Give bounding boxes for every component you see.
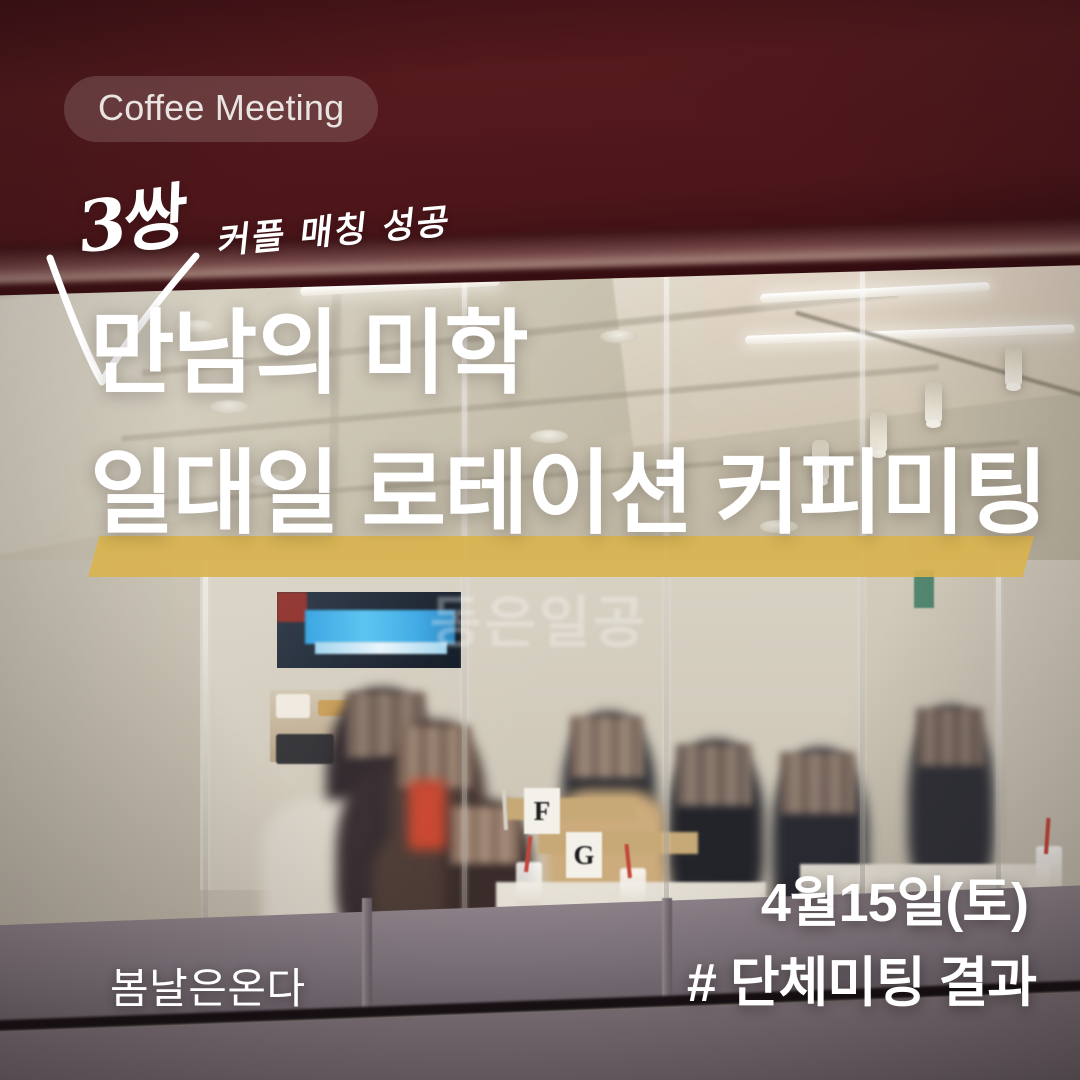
category-badge[interactable]: Coffee Meeting [64,76,378,142]
promo-poster: F G 동은일공 Coffee Meeting [0,0,1080,1080]
title-line-2: 일대일 로테이션 커피미팅 [90,448,1046,540]
event-hashtag: # 단체미팅 결과 [687,938,1036,1017]
handwritten-note: 커플 매칭 성공 [216,192,454,264]
event-date: 4월15일(토) [761,858,1028,937]
title-line-1: 만남의 미학 [90,308,527,400]
brand-name: 봄날은온다 [110,955,306,1016]
handwritten-count: 3쌍 [77,159,187,274]
text-overlay: Coffee Meeting 3쌍 커플 매칭 성공 만남의 미학 일대일 로테… [0,0,1080,1080]
